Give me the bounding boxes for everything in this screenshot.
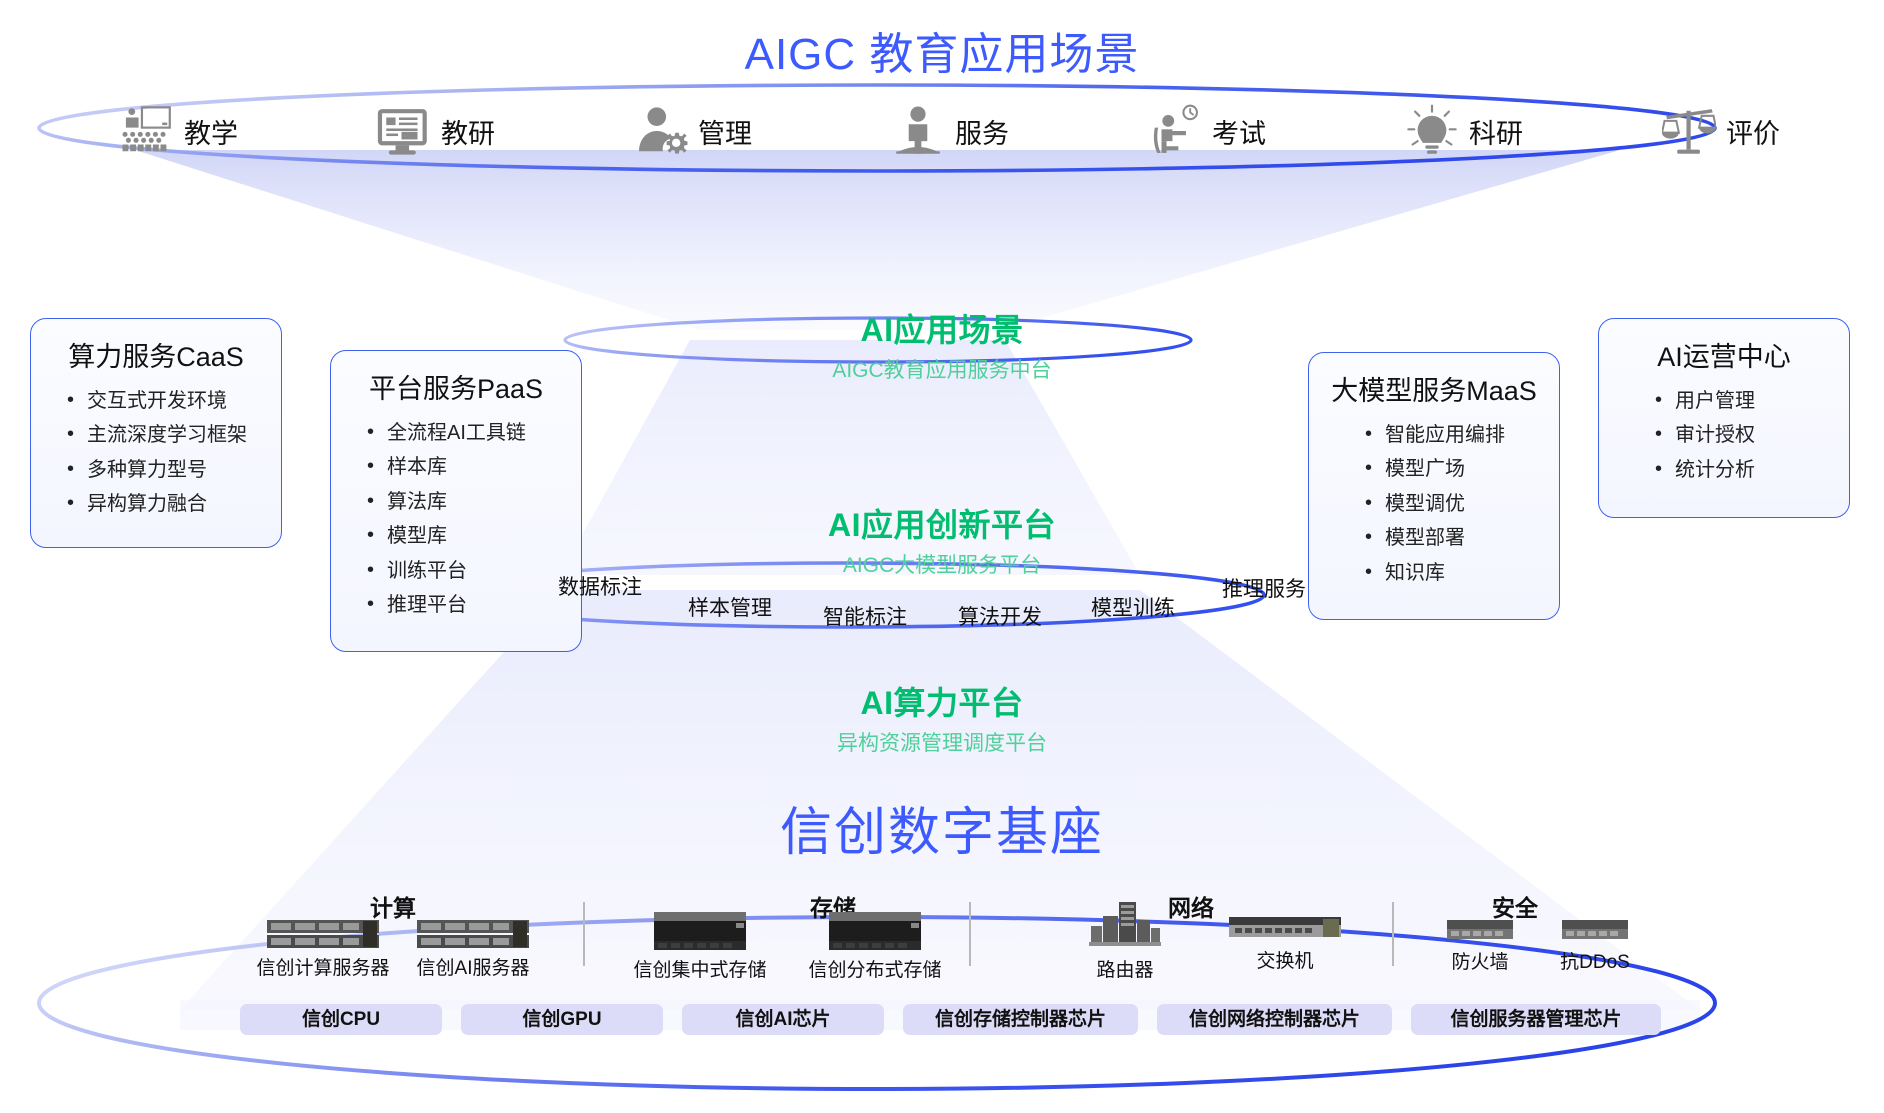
scene-label: 教研 xyxy=(441,112,495,151)
layer-app-innovation: AI应用创新平台 AIGC大模型服务平台 xyxy=(0,500,1884,579)
base-word: 信创数字基座 xyxy=(0,790,1884,865)
balance-scale-icon xyxy=(1662,104,1716,158)
hw-divider xyxy=(583,902,585,966)
chip-server-management[interactable]: 信创服务器管理芯片 xyxy=(1411,1004,1661,1035)
scene-label: 考试 xyxy=(1212,112,1266,151)
exam-clock-icon xyxy=(1148,104,1202,158)
layer-title: AI应用场景 xyxy=(0,305,1884,351)
firewall-icon xyxy=(1447,918,1513,944)
list-item: 主流深度学习框架 xyxy=(67,418,281,452)
monitor-research-icon xyxy=(377,104,431,158)
switch-icon xyxy=(1229,915,1341,943)
anti-ddos-icon xyxy=(1562,918,1628,944)
scene-label: 管理 xyxy=(698,112,752,151)
list-item: 多种算力型号 xyxy=(67,453,281,487)
scene-item-sci-research[interactable]: 科研 xyxy=(1405,104,1523,158)
ring-label-smart-annotation: 智能标注 xyxy=(823,601,907,631)
scene-label: 科研 xyxy=(1469,112,1523,151)
storage-array-icon xyxy=(827,910,923,952)
list-item: 推理平台 xyxy=(367,588,581,622)
ring-label-data-annotation: 数据标注 xyxy=(558,571,642,601)
card-maas: 大模型服务MaaS 智能应用编排 模型广场 模型调优 模型部署 知识库 xyxy=(1308,352,1560,620)
ring-label-algorithm-dev: 算法开发 xyxy=(958,601,1042,631)
page-title: AIGC 教育应用场景 xyxy=(0,18,1884,82)
ring-label-model-training: 模型训练 xyxy=(1091,592,1175,622)
router-icon xyxy=(1089,898,1161,952)
hw-item-label: 信创计算服务器 xyxy=(243,953,403,980)
classroom-teaching-icon xyxy=(120,104,174,158)
list-item: 智能应用编排 xyxy=(1365,418,1559,452)
hw-item-label: 信创集中式存储 xyxy=(615,955,785,982)
hw-item-label: 信创AI服务器 xyxy=(398,953,548,980)
chip-storage-controller[interactable]: 信创存储控制器芯片 xyxy=(903,1004,1138,1035)
layer-subtitle: AIGC大模型服务平台 xyxy=(0,549,1884,579)
hw-item-anti-ddos: 抗DDoS xyxy=(1540,918,1650,974)
layer-subtitle: AIGC教育应用服务中台 xyxy=(0,354,1884,384)
scene-label: 教学 xyxy=(184,112,238,151)
lightbulb-icon xyxy=(1405,104,1459,158)
ring-label-inference-service: 推理服务 xyxy=(1222,573,1306,603)
list-item: 审计授权 xyxy=(1655,418,1849,452)
list-item: 样本库 xyxy=(367,450,581,484)
hw-item-label: 防火墙 xyxy=(1425,947,1535,974)
layer-subtitle: 异构资源管理调度平台 xyxy=(0,727,1884,757)
rack-server-icon xyxy=(417,918,529,950)
hw-item-centralized-storage: 信创集中式存储 xyxy=(615,910,785,982)
chip-network-controller[interactable]: 信创网络控制器芯片 xyxy=(1157,1004,1392,1035)
chip-ai[interactable]: 信创AI芯片 xyxy=(682,1004,884,1035)
ring-label-sample-management: 样本管理 xyxy=(688,592,772,622)
hw-item-label: 抗DDoS xyxy=(1540,947,1650,974)
layer-compute-platform: AI算力平台 异构资源管理调度平台 xyxy=(0,678,1884,757)
service-person-icon xyxy=(891,104,945,158)
layer-app-scene: AI应用场景 AIGC教育应用服务中台 xyxy=(0,305,1884,384)
list-item: 统计分析 xyxy=(1655,453,1849,487)
hw-item-distributed-storage: 信创分布式存储 xyxy=(790,910,960,982)
list-item: 模型广场 xyxy=(1365,452,1559,486)
scene-item-management[interactable]: 管理 xyxy=(634,104,752,158)
hw-item-compute-server: 信创计算服务器 xyxy=(243,918,403,980)
scene-item-teaching[interactable]: 教学 xyxy=(120,104,238,158)
chip-gpu[interactable]: 信创GPU xyxy=(461,1004,663,1035)
hw-item-label: 信创分布式存储 xyxy=(790,955,960,982)
hw-item-label: 交换机 xyxy=(1210,946,1360,973)
card-list: 用户管理 审计授权 统计分析 xyxy=(1599,384,1849,487)
list-item: 交互式开发环境 xyxy=(67,384,281,418)
layer-title: AI应用创新平台 xyxy=(0,500,1884,546)
rack-server-icon xyxy=(267,918,379,950)
hw-item-label: 路由器 xyxy=(1065,955,1185,982)
scene-item-service[interactable]: 服务 xyxy=(891,104,1009,158)
list-item: 用户管理 xyxy=(1655,384,1849,418)
hw-item-router: 路由器 xyxy=(1065,898,1185,982)
user-gear-icon xyxy=(634,104,688,158)
scene-row: 教学 教研 xyxy=(120,96,1780,166)
hw-item-firewall: 防火墙 xyxy=(1425,918,1535,974)
storage-array-icon xyxy=(652,910,748,952)
scene-label: 服务 xyxy=(955,112,1009,151)
hw-item-switch: 交换机 xyxy=(1210,915,1360,973)
scene-item-research[interactable]: 教研 xyxy=(377,104,495,158)
scene-item-evaluation[interactable]: 评价 xyxy=(1662,104,1780,158)
hw-divider xyxy=(969,902,971,966)
hw-item-ai-server: 信创AI服务器 xyxy=(398,918,548,980)
scene-item-exam[interactable]: 考试 xyxy=(1148,104,1266,158)
hw-divider xyxy=(1392,902,1394,966)
diagram-canvas: AIGC 教育应用场景 xyxy=(0,0,1884,1113)
scene-label: 评价 xyxy=(1726,112,1780,151)
list-item: 全流程AI工具链 xyxy=(367,416,581,450)
layer-title: AI算力平台 xyxy=(0,678,1884,724)
chip-cpu[interactable]: 信创CPU xyxy=(240,1004,442,1035)
